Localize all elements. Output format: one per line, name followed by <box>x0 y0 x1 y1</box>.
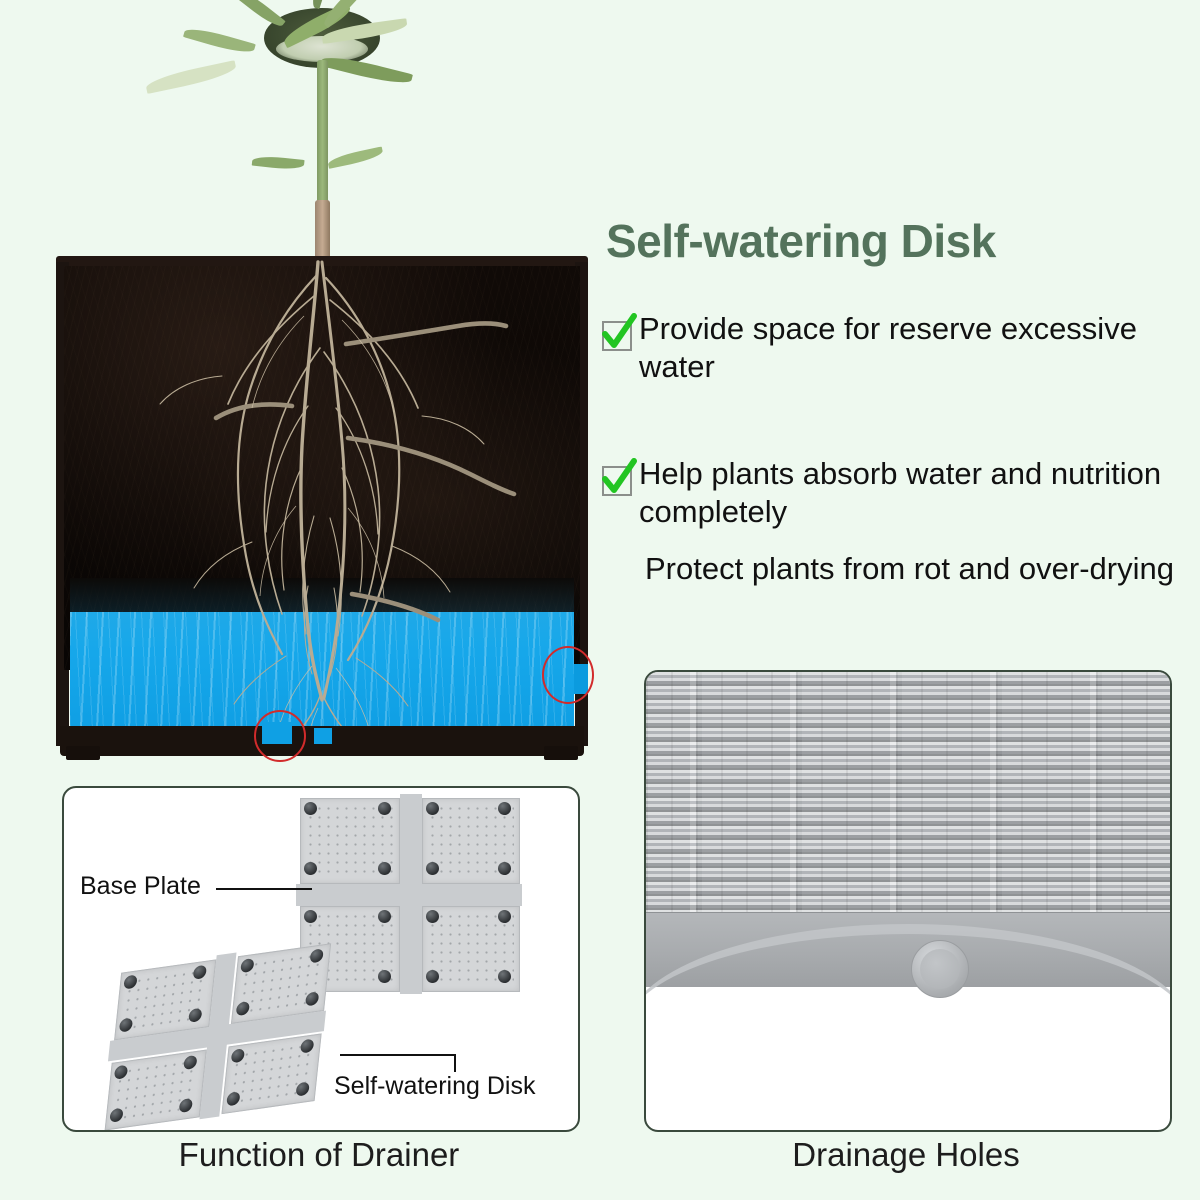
check-square-icon <box>600 460 634 494</box>
plant-leaf-icon <box>252 155 305 171</box>
base-plate-label: Base Plate <box>80 872 201 901</box>
feature-note-label: Protect plants from rot and over-drying <box>645 550 1190 588</box>
caption-function-of-drainer: Function of Drainer <box>62 1136 576 1174</box>
feature-bullet-1-label: Provide space for reserve excessive wate… <box>639 310 1179 386</box>
plant-rootstock <box>315 200 330 260</box>
rattan-weave-texture <box>646 672 1170 920</box>
base-plate-leader-line <box>216 888 312 890</box>
planter-foot-right <box>544 746 578 760</box>
drainage-hole-plug-icon <box>911 940 969 998</box>
rattan-weave-knots <box>646 672 1170 920</box>
self-watering-disk-label: Self-watering Disk <box>334 1072 535 1101</box>
plant-leaf-icon <box>183 24 256 56</box>
self-watering-disk-leader-v <box>454 1054 456 1072</box>
soil-water-cross-section <box>56 256 588 756</box>
panel-function-of-drainer: Base Plate Self-watering Disk <box>62 786 580 1132</box>
drainage-notch-bottom-2 <box>314 728 332 744</box>
check-square-icon <box>600 315 634 349</box>
feature-bullet-2: Help plants absorb water and nutrition c… <box>600 455 1179 531</box>
plant-leaf-icon <box>320 52 413 88</box>
plant-root-system <box>56 256 588 756</box>
plant-leaf-icon <box>144 60 237 94</box>
self-watering-disk-leader-h <box>340 1054 456 1056</box>
planter-cross-section-photo <box>46 0 598 768</box>
feature-bullet-1: Provide space for reserve excessive wate… <box>600 310 1179 386</box>
page-title: Self-watering Disk <box>606 214 996 268</box>
self-watering-disk-image <box>100 939 333 1132</box>
annotation-circle-right <box>542 646 594 704</box>
panel-drainage-holes <box>644 670 1172 1132</box>
annotation-circle-bottom <box>254 710 306 762</box>
feature-bullet-2-label: Help plants absorb water and nutrition c… <box>639 455 1179 531</box>
plant-leaf-icon <box>327 146 384 168</box>
root-svg <box>56 256 588 756</box>
planter-foot-left <box>66 746 100 760</box>
caption-drainage-holes: Drainage Holes <box>644 1136 1168 1174</box>
